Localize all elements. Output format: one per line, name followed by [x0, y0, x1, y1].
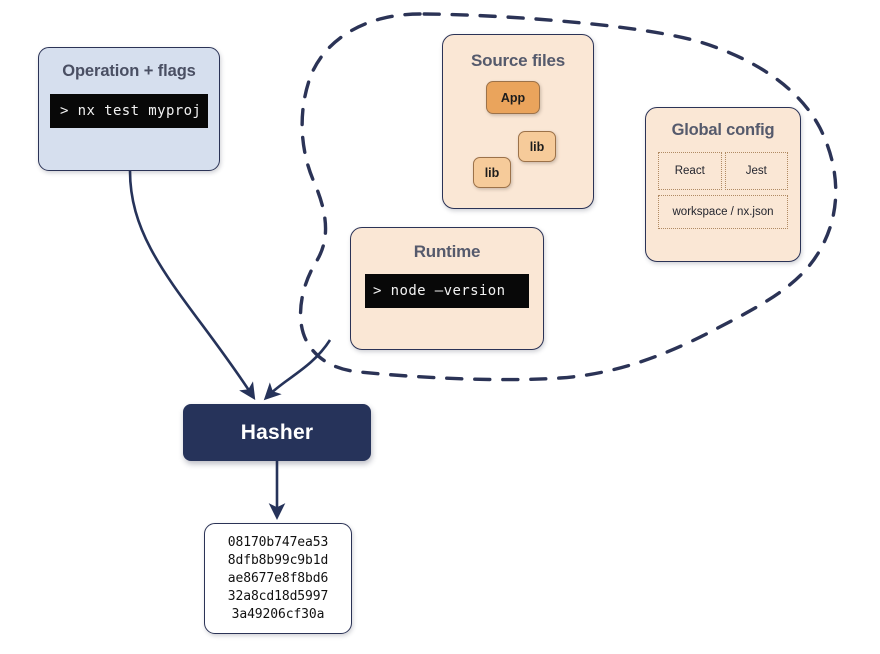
- global-config-card: Global config React Jest workspace / nx.…: [645, 107, 801, 262]
- global-config-item-jest: Jest: [725, 152, 789, 190]
- global-config-workspace: workspace / nx.json: [658, 195, 788, 229]
- diagram-canvas: Operation + flags > nx test myproj Sourc…: [0, 0, 880, 654]
- global-config-item-react: React: [658, 152, 722, 190]
- source-node-lib-right: lib: [518, 131, 556, 162]
- hash-line: ae8677e8f8bd6: [228, 570, 328, 588]
- runtime-card: Runtime > node –version: [350, 227, 544, 350]
- operation-command-terminal: > nx test myproj: [50, 94, 208, 128]
- global-config-row: React Jest: [658, 152, 788, 190]
- hash-line: 3a49206cf30a: [232, 606, 325, 624]
- hash-line: 8dfb8b99c9b1d: [228, 552, 328, 570]
- hash-line: 08170b747ea53: [228, 534, 328, 552]
- operation-flags-card: Operation + flags > nx test myproj: [38, 47, 220, 171]
- source-node-app: App: [486, 81, 540, 114]
- hasher-node: Hasher: [183, 404, 371, 461]
- source-node-lib-left: lib: [473, 157, 511, 188]
- source-files-card: Source files App lib lib: [442, 34, 594, 209]
- hasher-label: Hasher: [241, 421, 313, 445]
- runtime-title: Runtime: [365, 242, 529, 262]
- runtime-command-terminal: > node –version: [365, 274, 529, 308]
- hash-line: 32a8cd18d5997: [228, 588, 328, 606]
- hash-output-card: 08170b747ea53 8dfb8b99c9b1d ae8677e8f8bd…: [204, 523, 352, 634]
- operation-flags-title: Operation + flags: [51, 62, 207, 81]
- edge-operation-to-hasher: [130, 171, 252, 395]
- global-config-title: Global config: [658, 121, 788, 140]
- source-files-title: Source files: [443, 51, 593, 71]
- edge-cloud-to-hasher: [268, 340, 330, 396]
- source-files-graph: App lib lib: [443, 71, 595, 181]
